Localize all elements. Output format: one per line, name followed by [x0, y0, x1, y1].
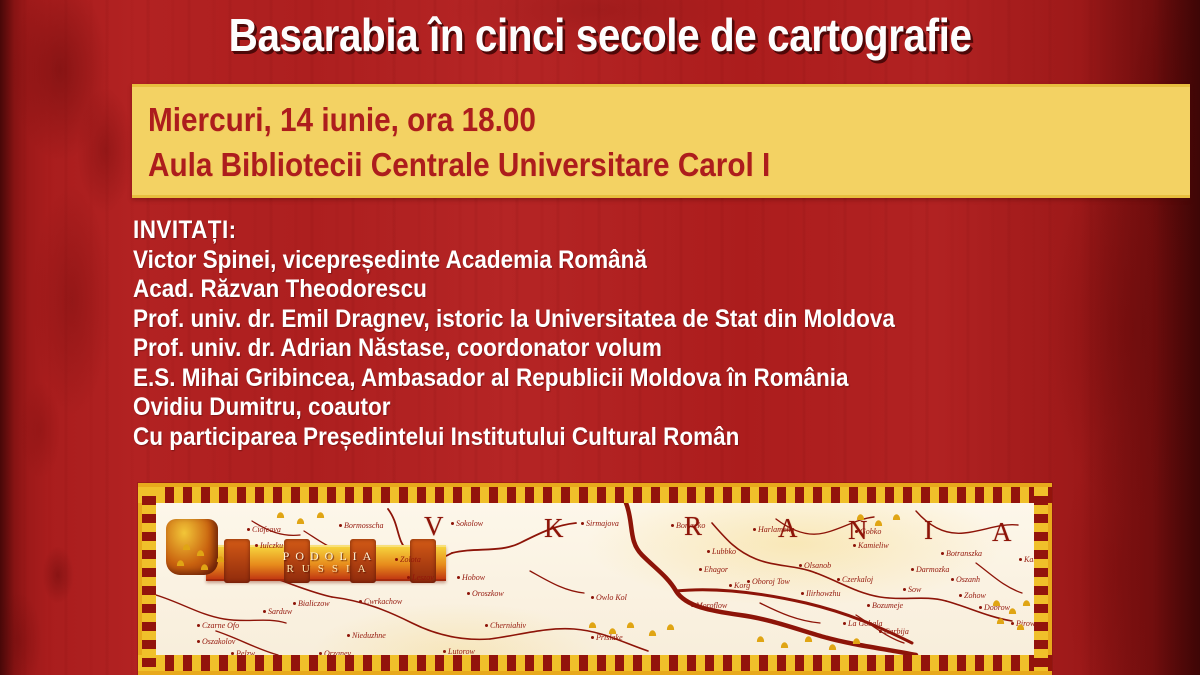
map-place-label: Ciofcova [252, 525, 281, 534]
map-town-marker [691, 604, 694, 607]
map-place-label: Bozumeje [872, 601, 903, 610]
map-town-marker [263, 610, 266, 613]
map-town-marker [729, 584, 732, 587]
guest-list-item: Victor Spinei, vicepreședinte Academia R… [133, 246, 1033, 276]
guest-list-item: Cu participarea Președintelui Institutul… [133, 423, 1033, 453]
map-place-label: Iulczku [260, 541, 283, 550]
map-terrain-hill [182, 543, 191, 550]
map-place-label: Cherniahiv [490, 621, 526, 630]
map-town-marker [197, 624, 200, 627]
map-terrain-hill [316, 511, 325, 518]
map-place-label: Sarduw [268, 607, 292, 616]
map-terrain-hill [874, 519, 883, 526]
map-terrain-hill [996, 617, 1005, 624]
guest-list-item: E.S. Mihai Gribincea, Ambasador al Repub… [133, 364, 1033, 394]
map-place-label: Ehagor [704, 565, 728, 574]
map-border-bottom [138, 655, 1052, 671]
guest-list-item: Acad. Răzvan Theodorescu [133, 275, 1033, 305]
map-terrain-hill [176, 559, 185, 566]
map-terrain-hill [588, 621, 597, 628]
map-town-marker [443, 650, 446, 653]
map-terrain-hill [892, 513, 901, 520]
map-place-label: Oboroj Tow [752, 577, 790, 586]
guest-list-item: Prof. univ. dr. Emil Dragnev, istoric la… [133, 305, 1033, 335]
map-town-marker [903, 588, 906, 591]
map-town-marker [707, 550, 710, 553]
map-terrain-hill [828, 643, 837, 650]
map-place-label: Owlo Kol [596, 593, 627, 602]
map-place-label: Hobow [462, 573, 485, 582]
map-place-label: Harlamcha [758, 525, 794, 534]
map-town-marker [747, 580, 750, 583]
map-terrain-hill [1016, 623, 1025, 630]
map-terrain-hill [296, 517, 305, 524]
map-region-letter: I [924, 515, 933, 546]
antique-map-illustration: PODOLIA RUSSIA VKRANIACiofcovaIulczkuBor… [138, 483, 1052, 675]
background-left-edge-shade [0, 0, 26, 675]
map-town-marker [1011, 622, 1014, 625]
cartouche-label-secondary: RUSSIA [220, 563, 440, 575]
map-town-marker [231, 652, 234, 655]
map-place-label: Cwrkachow [364, 597, 402, 606]
map-town-marker [591, 596, 594, 599]
map-place-label: Oszakolov [202, 637, 235, 646]
map-place-label: La Gobala [848, 619, 882, 628]
map-border-top [138, 487, 1052, 503]
map-place-label: Sokolow [456, 519, 483, 528]
map-place-label: Lutorow [448, 647, 475, 655]
map-region-letter: V [424, 511, 444, 542]
event-info-band-inner: Miercuri, 14 iunie, ora 18.00 Aula Bibli… [132, 87, 1190, 187]
event-datetime: Miercuri, 14 iunie, ora 18.00 [148, 97, 1086, 142]
map-town-marker [843, 622, 846, 625]
map-place-label: Olsanob [804, 561, 831, 570]
map-town-marker [485, 624, 488, 627]
map-place-label: Prislake [596, 633, 623, 642]
map-place-label: Kabrowl [1024, 555, 1034, 564]
map-town-marker [941, 552, 944, 555]
map-terrain-hill [196, 549, 205, 556]
map-town-marker [339, 524, 342, 527]
map-place-label: Kamieliw [858, 541, 889, 550]
map-town-marker [467, 592, 470, 595]
poster-title-container: Basarabia în cinci secole de cartografie [0, 8, 1200, 62]
guest-list: INVITAȚI: Victor Spinei, vicepreședinte … [133, 216, 1133, 452]
guest-list-item: Ovidiu Dumitru, coautor [133, 393, 1033, 423]
poster-root: Basarabia în cinci secole de cartografie… [0, 0, 1200, 675]
map-place-label: Zolota [400, 555, 421, 564]
map-town-marker [911, 568, 914, 571]
map-place-label: Boryszko [676, 521, 705, 530]
map-town-marker [799, 564, 802, 567]
map-region-letter: K [544, 513, 564, 544]
map-place-label: Ilirhowzhu [806, 589, 841, 598]
map-place-label: Lubbko [712, 547, 736, 556]
map-town-marker [951, 578, 954, 581]
map-town-marker [407, 576, 410, 579]
map-place-label: Nieduzhne [352, 631, 386, 640]
map-place-label: Gobko [860, 527, 881, 536]
map-terrain-hill [856, 513, 865, 520]
map-town-marker [1019, 558, 1022, 561]
map-town-marker [247, 528, 250, 531]
map-town-marker [753, 528, 756, 531]
map-terrain-hill [648, 629, 657, 636]
map-terrain-hill [852, 637, 861, 644]
map-terrain-hill [1022, 599, 1031, 606]
map-terrain-hill [216, 555, 225, 562]
map-terrain-hill [608, 627, 617, 634]
map-place-label: Darmozka [916, 565, 949, 574]
map-place-label: Sow [908, 585, 921, 594]
map-border-left [142, 487, 156, 671]
map-town-marker [855, 530, 858, 533]
map-town-marker [457, 576, 460, 579]
map-town-marker [293, 602, 296, 605]
map-town-marker [699, 568, 702, 571]
map-place-label: Oroszkow [472, 589, 504, 598]
map-town-marker [867, 604, 870, 607]
map-place-label: Moroflow [696, 601, 727, 610]
guest-list-heading: INVITAȚI: [133, 216, 1033, 246]
map-terrain-hill [756, 635, 765, 642]
map-town-marker [979, 606, 982, 609]
map-terrain-hill [626, 621, 635, 628]
map-engraving-plate: PODOLIA RUSSIA VKRANIACiofcovaIulczkuBor… [156, 503, 1034, 655]
map-town-marker [671, 524, 674, 527]
map-place-label: Orzaney [324, 649, 351, 655]
map-terrain-hill [804, 635, 813, 642]
map-town-marker [451, 522, 454, 525]
map-place-label: Czerkaloj [842, 575, 873, 584]
map-place-label: Oszanh [956, 575, 980, 584]
map-town-marker [347, 634, 350, 637]
map-place-label: Leszov [412, 573, 434, 582]
map-town-marker [255, 544, 258, 547]
map-place-label: Sirmajova [586, 519, 619, 528]
event-info-band: Miercuri, 14 iunie, ora 18.00 Aula Bibli… [132, 84, 1190, 198]
map-terrain-hill [992, 599, 1001, 606]
map-place-label: Bialiczow [298, 599, 330, 608]
map-terrain-hill [276, 511, 285, 518]
map-town-marker [591, 636, 594, 639]
map-town-marker [959, 594, 962, 597]
map-place-label: Carbija [884, 627, 909, 636]
cartouche-drum-ornament [166, 519, 218, 575]
map-border-right [1034, 487, 1048, 671]
map-town-marker [853, 544, 856, 547]
map-town-marker [319, 652, 322, 655]
map-town-marker [879, 630, 882, 633]
map-town-marker [395, 558, 398, 561]
event-venue: Aula Bibliotecii Centrale Universitare C… [148, 142, 1086, 187]
guest-list-item: Prof. univ. dr. Adrian Năstase, coordona… [133, 334, 1033, 364]
map-place-label: Botranszka [946, 549, 982, 558]
page-title: Basarabia în cinci secole de cartografie [229, 8, 972, 62]
map-terrain-hill [780, 641, 789, 648]
map-place-label: Czarne Ofo [202, 621, 239, 630]
map-terrain-hill [200, 563, 209, 570]
map-terrain-hill [1008, 607, 1017, 614]
map-terrain-hill [666, 623, 675, 630]
map-town-marker [581, 522, 584, 525]
map-place-label: Pelzw [236, 649, 255, 655]
map-place-label: Zohow [964, 591, 986, 600]
map-town-marker [837, 578, 840, 581]
map-place-label: Bormosscha [344, 521, 384, 530]
map-town-marker [801, 592, 804, 595]
map-town-marker [197, 640, 200, 643]
map-town-marker [359, 600, 362, 603]
map-region-letter: A [992, 517, 1012, 548]
